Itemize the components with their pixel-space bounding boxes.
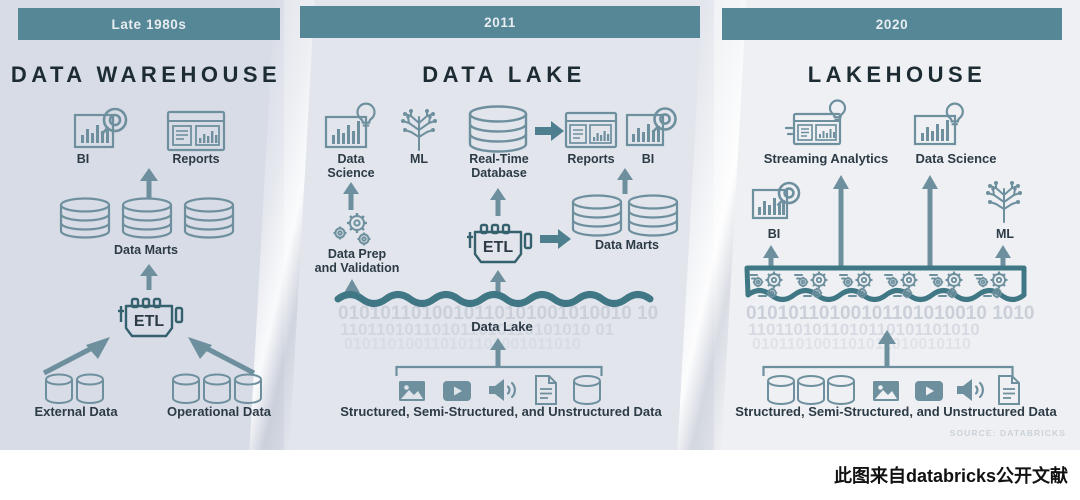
- dl-data-prep-gears-icon: [330, 212, 382, 248]
- lakehouse-evolution-diagram: Late 1980s 2011 2020 DATA WAREHOUSE DATA…: [0, 0, 1080, 500]
- lh-document-icon: [997, 375, 1021, 405]
- era-label-2020: 2020: [876, 17, 908, 32]
- lh-streaming-analytics-label: Streaming Analytics: [752, 152, 900, 166]
- dl-data-science-label: Data Science: [318, 152, 384, 180]
- dw-bi-icon: [73, 107, 133, 153]
- dw-reports-icon: [167, 111, 225, 151]
- dl-wave-icon: [336, 290, 676, 312]
- dl-arrow-db-to-reports: [535, 120, 565, 142]
- era-bar-1980s: Late 1980s: [18, 8, 280, 40]
- era-label-2011: 2011: [484, 15, 516, 30]
- dw-etl-icon: ETL: [110, 292, 188, 340]
- dl-arrow-sources-to-lake: [487, 338, 509, 366]
- column-title-data-warehouse: DATA WAREHOUSE: [0, 62, 292, 88]
- dw-arrow-operational-to-etl: [180, 335, 258, 377]
- lh-arrow-sources-to-lakehouse: [875, 330, 899, 366]
- dw-arrow-etl-to-marts: [138, 264, 160, 290]
- lh-database-icon-2: [796, 375, 826, 405]
- dl-data-science-icon: [324, 109, 378, 153]
- dl-data-marts-icon: [570, 193, 680, 239]
- dl-reports-icon: [565, 112, 617, 148]
- era-bar-2011: 2011: [300, 6, 700, 38]
- dw-external-data-icon: [43, 372, 108, 406]
- dl-audio-icon: [487, 376, 521, 404]
- lh-arrow-to-streaming: [831, 175, 851, 267]
- dl-bi-label: BI: [628, 152, 668, 166]
- era-label-1980s: Late 1980s: [111, 17, 186, 32]
- dl-arrow-etl-to-marts: [540, 228, 572, 250]
- lh-data-science-label: Data Science: [900, 152, 1012, 166]
- lh-bi-label: BI: [753, 227, 795, 241]
- lh-ml-label: ML: [985, 227, 1025, 241]
- dl-data-marts-label: Data Marts: [580, 238, 674, 252]
- lh-arrow-to-bi: [761, 245, 781, 267]
- figure-caption: 此图来自databricks公开文献: [834, 462, 1068, 488]
- dl-arrow-marts-to-reports: [614, 168, 636, 194]
- dw-external-data-label: External Data: [14, 405, 138, 419]
- lh-database-icon-3: [826, 375, 856, 405]
- dl-data-prep-label: Data Prep and Validation: [299, 247, 415, 275]
- lh-ml-icon: [983, 180, 1025, 224]
- dl-etl-text: ETL: [483, 239, 513, 256]
- dl-database-icon: [572, 375, 602, 405]
- dl-ml-label: ML: [394, 152, 444, 166]
- dw-operational-data-label: Operational Data: [148, 405, 290, 419]
- dl-video-icon: [442, 380, 472, 402]
- dw-etl-text: ETL: [134, 313, 164, 330]
- dw-arrow-external-to-etl: [40, 335, 118, 377]
- dl-etl-icon: ETL: [459, 218, 537, 266]
- dl-arrow-etl-to-db: [487, 188, 509, 216]
- lh-audio-icon: [955, 376, 989, 404]
- column-title-lakehouse: LAKEHOUSE: [714, 62, 1080, 88]
- lh-image-icon: [872, 378, 900, 404]
- dw-arrow-marts-to-bi: [138, 168, 160, 198]
- dl-bi-icon: [625, 107, 681, 151]
- dl-realtime-db-label: Real-Time Database: [455, 152, 543, 180]
- column-title-data-lake: DATA LAKE: [284, 62, 724, 88]
- dl-document-icon: [534, 375, 558, 405]
- lh-arrow-to-data-science: [920, 175, 940, 267]
- dl-ml-icon: [398, 108, 440, 152]
- dw-data-marts-icon: [58, 196, 235, 240]
- lh-arrow-to-ml: [993, 245, 1013, 267]
- lh-video-icon: [914, 380, 944, 402]
- dw-reports-label: Reports: [161, 152, 231, 166]
- lh-sources-label: Structured, Semi-Structured, and Unstruc…: [712, 405, 1080, 419]
- dw-bi-label: BI: [53, 152, 113, 166]
- lh-lakehouse-bar-icon: [744, 265, 1027, 313]
- dl-data-lake-label: Data Lake: [452, 320, 552, 334]
- dl-reports-label: Reports: [558, 152, 624, 166]
- dl-realtime-db-icon: [467, 105, 529, 155]
- lh-streaming-analytics-icon: [786, 108, 848, 150]
- dw-data-marts-label: Data Marts: [96, 243, 196, 257]
- dl-sources-label: Structured, Semi-Structured, and Unstruc…: [296, 405, 706, 419]
- source-attribution: SOURCE: DATABRICKS: [950, 428, 1066, 438]
- lh-bi-icon: [751, 182, 805, 224]
- dw-operational-data-icon: [170, 372, 266, 406]
- lh-database-icon-1: [766, 375, 796, 405]
- dl-image-icon: [398, 378, 426, 404]
- dl-arrow-prep-to-ds: [340, 182, 362, 210]
- lh-data-science-icon: [913, 108, 967, 150]
- era-bar-2020: 2020: [722, 8, 1062, 40]
